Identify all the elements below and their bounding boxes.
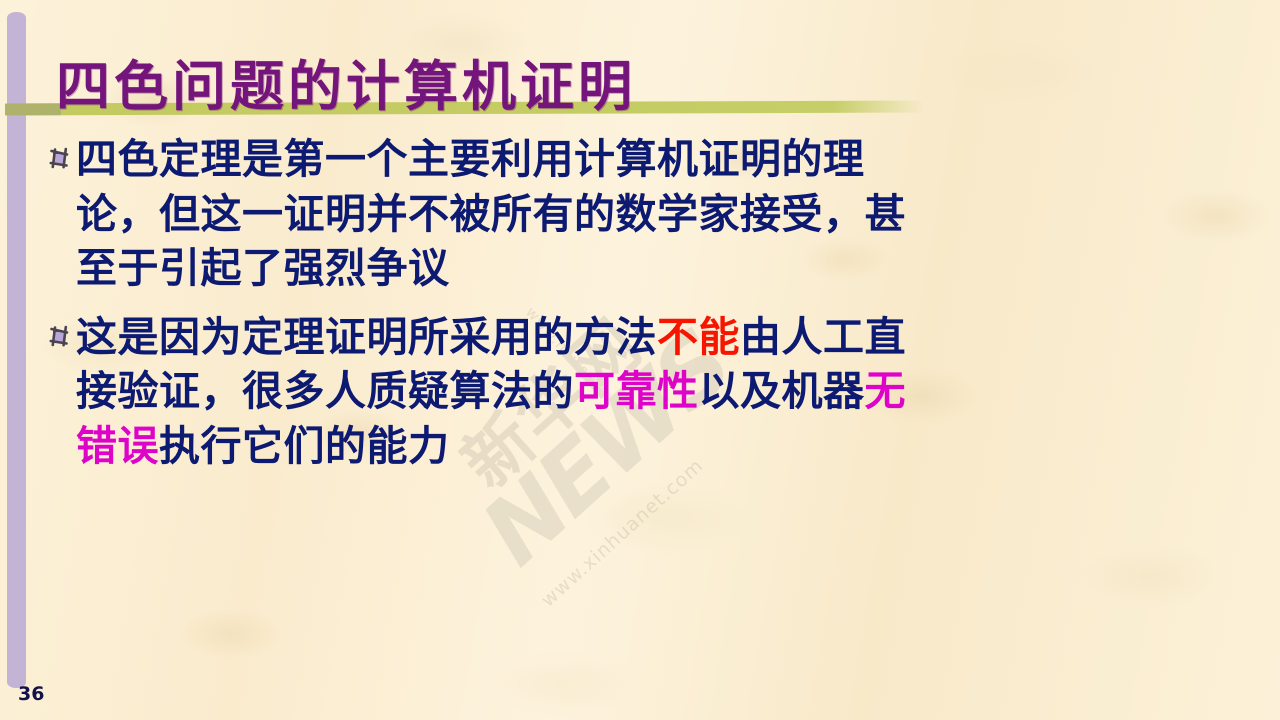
page-title: 四色问题的计算机证明 — [56, 58, 636, 115]
text-segment: 执行它们的能力 — [159, 422, 450, 470]
text-segment: 以及机器 — [699, 367, 865, 415]
text-segment-highlight-red: 不能 — [657, 313, 740, 361]
page-number: 36 — [18, 683, 44, 705]
list-item-text: 这是因为定理证明所采用的方法不能由人工直接验证，很多人质疑算法的可靠性以及机器无… — [76, 310, 924, 474]
slide-canvas: 新华网 NEWS www.xinhuanet.com www.news.cn 四… — [0, 0, 1280, 720]
bullet-list: 四色定理是第一个主要利用计算机证明的理论，但这一证明并不被所有的数学家接受，甚至… — [44, 132, 924, 487]
text-segment: 这是因为定理证明所采用的方法 — [76, 313, 657, 361]
text-segment: 四色定理是第一个主要利用计算机证明的理论，但这一证明并不被所有的数学家接受，甚至… — [76, 135, 906, 292]
list-item: 这是因为定理证明所采用的方法不能由人工直接验证，很多人质疑算法的可靠性以及机器无… — [44, 310, 924, 474]
hash-square-bullet-icon — [44, 322, 74, 352]
text-segment-highlight-magenta: 可靠性 — [574, 367, 699, 415]
hash-square-bullet-icon — [44, 144, 74, 174]
list-item-text: 四色定理是第一个主要利用计算机证明的理论，但这一证明并不被所有的数学家接受，甚至… — [76, 132, 924, 296]
list-item: 四色定理是第一个主要利用计算机证明的理论，但这一证明并不被所有的数学家接受，甚至… — [44, 132, 924, 296]
